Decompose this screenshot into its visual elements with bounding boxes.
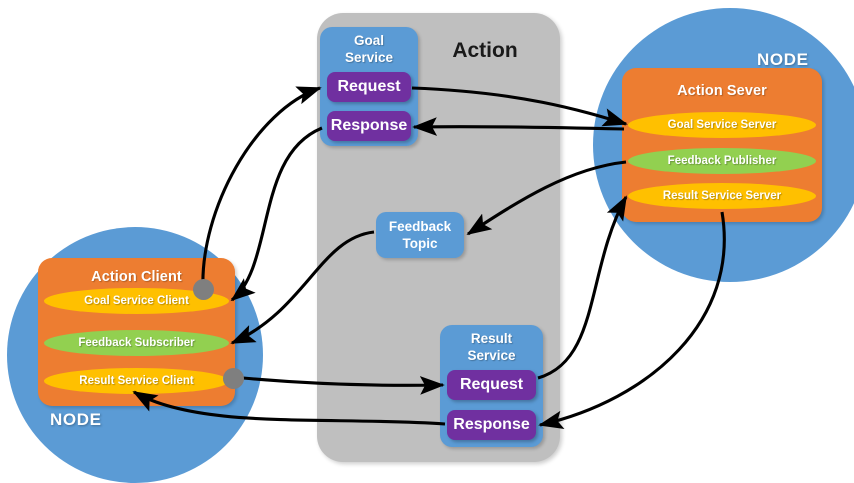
arrow-goal-request-to-server [412,88,626,124]
connector-dot-result-client [223,368,244,389]
arrow-result-request-to-server [538,197,626,378]
arrow-result-response-to-client [134,392,445,424]
arrow-feedback-topic-to-subscriber [232,232,374,343]
connection-arrows [0,0,854,480]
diagram-canvas: Action Action Client Goal Service Client… [0,0,854,480]
arrow-feedback-publisher-to-topic [468,162,626,234]
arrow-goal-server-to-response [414,127,624,129]
connector-dot-goal-client [193,279,214,300]
arrow-goal-client-to-request [203,88,320,289]
arrow-result-server-to-response [540,212,724,425]
arrow-result-client-to-request [243,378,443,385]
